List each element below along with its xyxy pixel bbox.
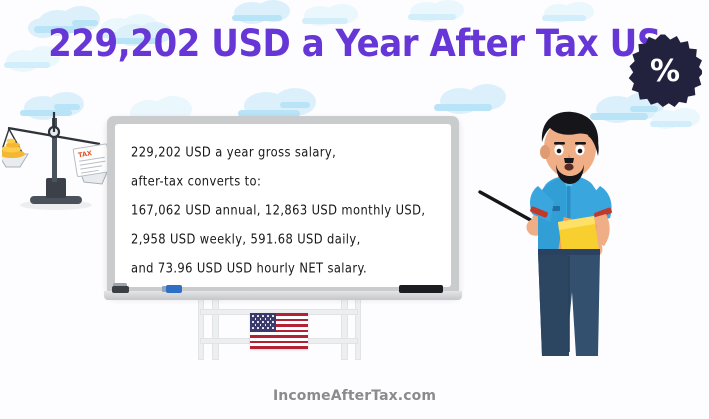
percent-glyph: % — [628, 33, 702, 107]
page-title: 229,202 USD a Year After Tax US — [28, 22, 680, 65]
black-marker-icon — [399, 285, 443, 293]
us-flag-icon — [250, 313, 308, 349]
balance-scale-icon: TAX — [2, 104, 110, 214]
board-line-5: and 73.96 USD USD hourly NET salary. — [131, 251, 441, 285]
whiteboard-text: 229,202 USD a year gross salary, after-t… — [131, 138, 441, 283]
teacher-icon — [478, 106, 660, 358]
balance-scale-illustration: TAX — [2, 104, 110, 214]
blue-marker-icon — [166, 285, 182, 293]
whiteboard-surface: 229,202 USD a year gross salary, after-t… — [115, 124, 451, 287]
pointer-stick-icon — [480, 192, 534, 222]
eraser-body-icon — [112, 286, 129, 293]
stand-leg-left — [212, 298, 219, 360]
percent-badge: % — [628, 33, 702, 107]
flag-canton — [250, 313, 276, 332]
stand-leg-outer-right — [355, 298, 361, 360]
tax-document-icon: TAX — [73, 144, 110, 177]
site-footer: IncomeAfterTax.com — [0, 388, 709, 404]
teacher-figure — [478, 106, 660, 358]
stand-leg-right — [341, 298, 348, 360]
stand-leg-outer-left — [198, 298, 204, 360]
whiteboard: 229,202 USD a year gross salary, after-t… — [107, 116, 459, 296]
infographic-canvas: 229,202 USD a Year After Tax US % — [0, 0, 709, 419]
